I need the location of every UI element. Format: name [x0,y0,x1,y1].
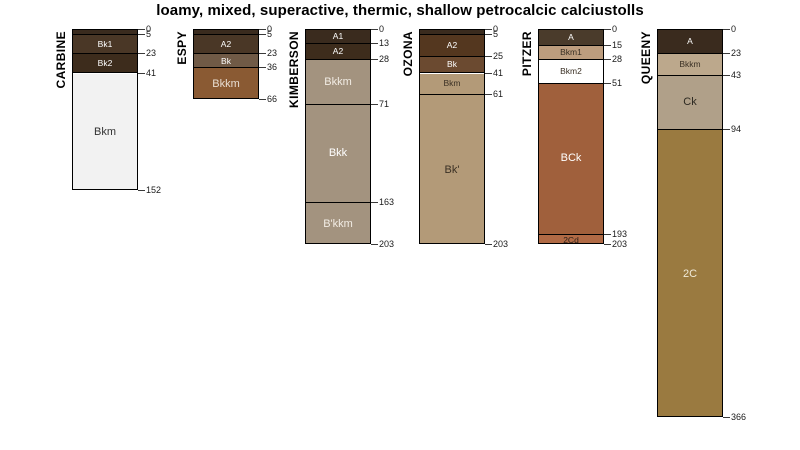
horizon-label: 2C [683,269,697,280]
depth-label: 203 [493,240,508,249]
depth-tick [138,190,145,191]
soil-horizon[interactable]: BCk [539,84,603,235]
depth-tick [723,75,730,76]
horizon-label: A2 [447,41,457,50]
profile-series-name: ESPY [175,31,189,65]
horizon-label: Bkkm [679,60,700,69]
soil-horizon[interactable]: A2 [306,44,370,60]
depth-label: 43 [731,71,741,80]
depth-label: 0 [379,25,384,34]
profile-series-name: KIMBERSON [287,31,301,108]
soil-horizon[interactable]: B'kkm [306,203,370,244]
depth-label: 13 [379,39,389,48]
depth-label: 28 [612,55,622,64]
depth-tick [371,104,378,105]
soil-horizon[interactable]: Bkm1 [539,46,603,60]
soil-horizon[interactable]: Bk [420,57,484,74]
depth-tick [371,244,378,245]
soil-horizon[interactable]: Bkkm [194,68,258,99]
horizon-label: 2Cd [563,236,579,245]
soil-horizon[interactable]: Bkkm [306,60,370,106]
horizon-label: Bk [447,60,457,69]
soil-horizon[interactable]: Bkm2 [539,60,603,84]
soil-horizon[interactable]: 2Cd [539,235,603,245]
depth-tick [371,29,378,30]
depth-label: 23 [731,49,741,58]
depth-label: 5 [267,30,272,39]
soil-horizon[interactable]: A2 [194,35,258,54]
soil-horizon[interactable]: 2C [658,130,722,418]
depth-tick [259,34,266,35]
horizon-label: Bk1 [98,40,113,49]
depth-tick [604,59,611,60]
depth-label: 163 [379,198,394,207]
depth-label: 23 [146,49,156,58]
soil-horizon[interactable]: Bkk [306,105,370,203]
depth-label: 193 [612,230,627,239]
depth-tick [371,202,378,203]
soil-horizon[interactable]: Bk1 [73,35,137,54]
horizon-label: A2 [221,40,231,49]
profile-column[interactable]: A2BkBkmBk' [419,29,485,244]
profile-column[interactable]: A1A2BkkmBkkB'kkm [305,29,371,244]
depth-label: 5 [146,30,151,39]
depth-label: 0 [731,25,736,34]
horizon-label: B'kkm [323,219,353,230]
depth-label: 41 [493,69,503,78]
depth-tick [604,244,611,245]
depth-tick [259,67,266,68]
depth-tick [259,29,266,30]
soil-horizon[interactable]: Bk [194,54,258,68]
profile-column[interactable]: ABkm1Bkm2BCk2Cd [538,29,604,244]
depth-label: 203 [612,240,627,249]
depth-label: 203 [379,240,394,249]
depth-tick [723,417,730,418]
depth-tick [604,45,611,46]
depth-tick [371,59,378,60]
horizon-label: BCk [561,153,582,164]
depth-tick [485,29,492,30]
horizon-label: Bk2 [98,59,113,68]
horizon-label: Bkkm [212,79,240,90]
soil-horizon[interactable]: A [539,30,603,46]
horizon-label: A1 [333,32,343,41]
depth-tick [723,129,730,130]
depth-label: 66 [267,95,277,104]
soil-horizon[interactable]: Bk' [420,95,484,245]
depth-tick [485,34,492,35]
horizon-label: Bkm2 [560,67,582,76]
depth-tick [259,99,266,100]
soil-horizon[interactable]: A2 [420,35,484,56]
horizon-label: Bkm [94,127,116,138]
horizon-label: A2 [333,47,343,56]
depth-label: 36 [267,63,277,72]
depth-label: 71 [379,100,389,109]
soil-horizon[interactable]: Bkm [420,74,484,95]
profile-column[interactable]: A2BkBkkm [193,29,259,99]
depth-label: 23 [267,49,277,58]
profile-column[interactable]: Bk1Bk2Bkm [72,29,138,190]
depth-tick [723,53,730,54]
profile-series-name: OZONA [401,31,415,76]
horizon-label: Bk [221,57,231,66]
page-title: loamy, mixed, superactive, thermic, shal… [0,2,800,19]
depth-tick [604,83,611,84]
horizon-label: Bk' [445,165,460,176]
profile-series-name: QUEENY [639,31,653,84]
depth-label: 94 [731,125,741,134]
soil-horizon[interactable]: A [658,30,722,54]
horizon-label: A [687,37,693,46]
depth-tick [138,34,145,35]
depth-label: 5 [493,30,498,39]
depth-label: 0 [612,25,617,34]
depth-tick [371,43,378,44]
depth-tick [604,234,611,235]
depth-label: 28 [379,55,389,64]
depth-tick [485,244,492,245]
soil-profile-figure: loamy, mixed, superactive, thermic, shal… [0,0,800,450]
depth-label: 61 [493,90,503,99]
depth-tick [604,29,611,30]
horizon-label: Bkkm [324,77,352,88]
soil-horizon[interactable]: Bkm [73,74,137,191]
depth-tick [485,94,492,95]
depth-label: 51 [612,79,622,88]
profile-series-name: CARBINE [54,31,68,88]
horizon-label: Ck [683,97,696,108]
horizon-label: Bkk [329,148,347,159]
depth-label: 25 [493,52,503,61]
depth-tick [138,29,145,30]
horizon-label: Bkm1 [560,48,582,57]
depth-label: 152 [146,186,161,195]
depth-label: 366 [731,413,746,422]
depth-tick [138,53,145,54]
horizon-label: Bkm [444,79,461,88]
depth-label: 41 [146,69,156,78]
profile-series-name: PITZER [520,31,534,76]
soil-horizon[interactable]: Bkkm [658,54,722,75]
horizon-label: A [568,33,574,42]
profile-column[interactable]: ABkkmCk2C [657,29,723,417]
depth-tick [259,53,266,54]
soil-horizon[interactable]: Bk2 [73,54,137,73]
depth-tick [138,73,145,74]
depth-tick [485,73,492,74]
soil-horizon[interactable]: Ck [658,76,722,130]
depth-tick [485,56,492,57]
depth-label: 15 [612,41,622,50]
depth-tick [723,29,730,30]
soil-horizon[interactable]: A1 [306,30,370,44]
